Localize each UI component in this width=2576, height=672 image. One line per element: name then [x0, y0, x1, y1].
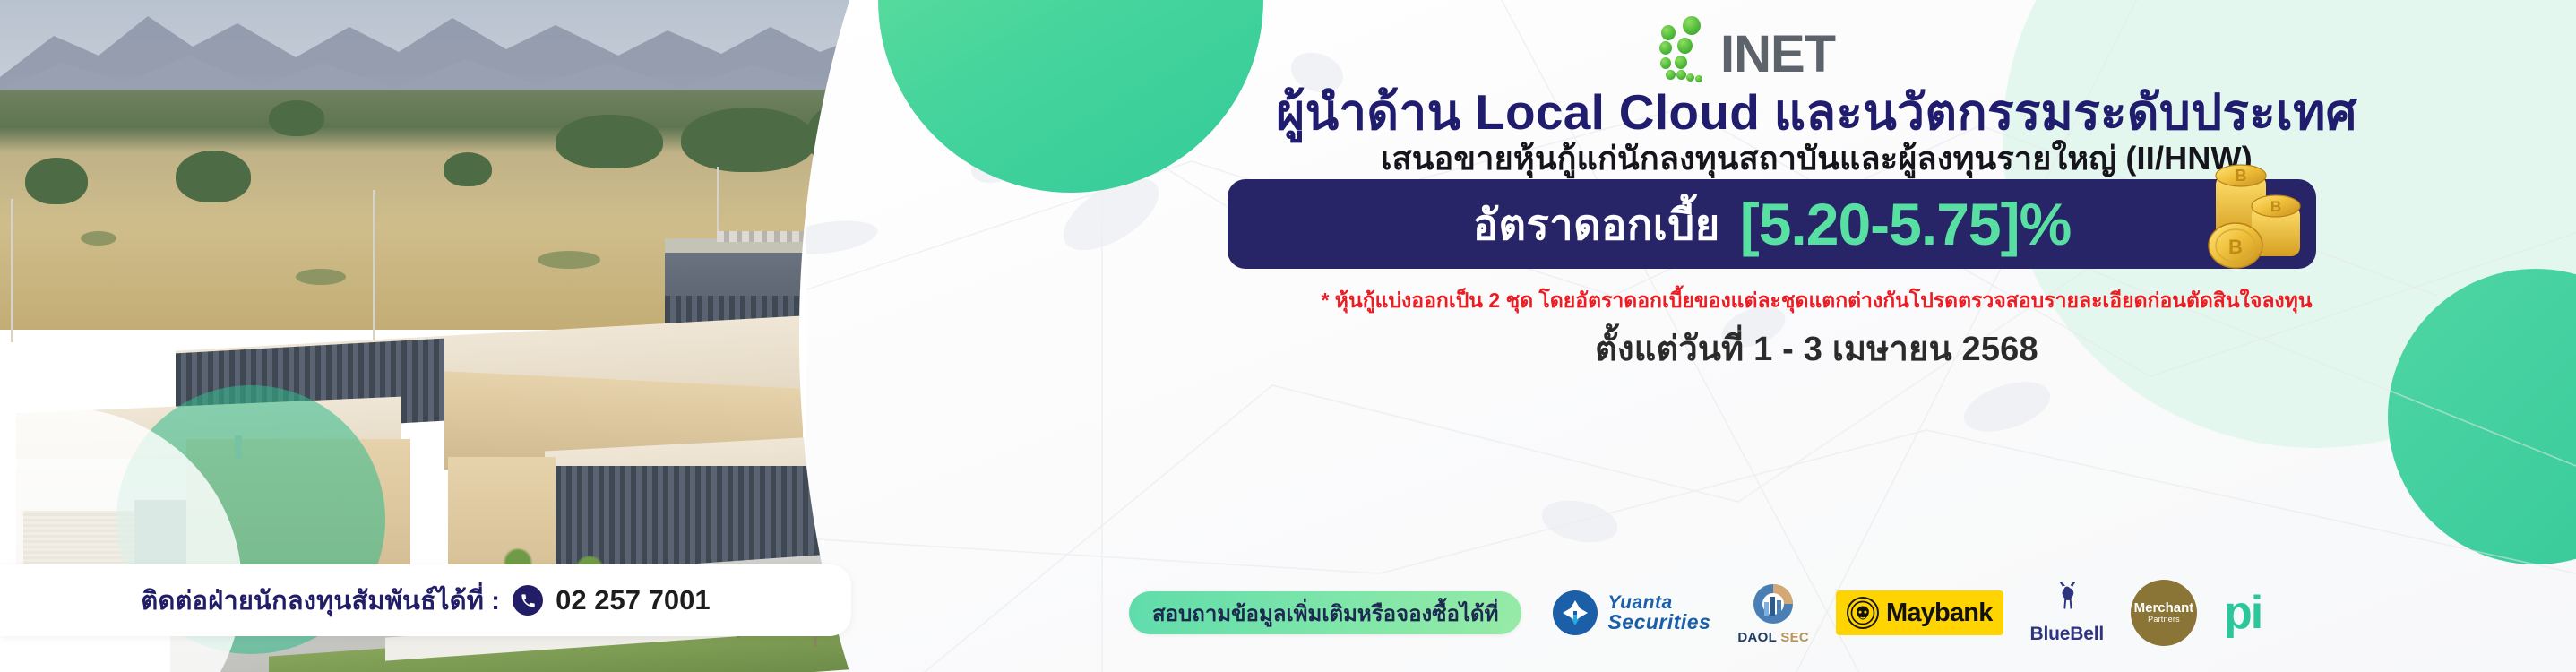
inet-bond-offering-banner: ติดต่อฝ่ายนักลงทุนสัมพันธ์ได้ที่ : 02 25… [0, 0, 2576, 672]
tree [556, 115, 663, 168]
gold-coin-stack-icon: B B B [2189, 152, 2323, 287]
partner-logo-maybank[interactable]: Maybank [1836, 590, 2003, 635]
partner-logo-pi[interactable]: pi [2224, 592, 2262, 634]
utility-pole [373, 190, 375, 342]
svg-text:B: B [2228, 236, 2243, 258]
contact-phone-number[interactable]: 02 257 7001 [556, 584, 710, 616]
daol-sec-suffix: SEC [1780, 630, 1809, 645]
inet-logo: INET [1649, 16, 1835, 77]
roof-equipment [717, 231, 923, 242]
svg-text:B: B [2236, 167, 2247, 185]
partner-logo-bluebell[interactable]: BlueBell [2030, 582, 2104, 645]
partner-logo-yuanta[interactable]: Yuanta Securities [1552, 590, 1710, 636]
tree [25, 158, 88, 204]
investor-relations-contact-card: ติดต่อฝ่ายนักลงทุนสัมพันธ์ได้ที่ : 02 25… [0, 564, 851, 636]
offering-disclaimer: * หุ้นกู้แบ่งออกเป็น 2 ชุด โดยอัตราดอกเบ… [1057, 285, 2576, 317]
merchant-name-line2: Partners [2148, 616, 2180, 624]
phone-icon [513, 585, 543, 616]
bluebell-deer-icon [2048, 582, 2086, 622]
maybank-tiger-icon [1847, 597, 1879, 629]
yuanta-name-line1: Yuanta [1607, 593, 1710, 612]
inet-dots-logo-icon [1649, 16, 1715, 77]
page-subtitle: เสนอขายหุ้นกู้แก่นักลงทุนสถาบันและผู้ลงท… [1057, 133, 2576, 184]
svg-text:B: B [2270, 198, 2281, 215]
inquiry-cta-button[interactable]: สอบถามข้อมูลเพิ่มเติมหรือจองซื้อได้ที่ [1129, 591, 1521, 634]
partners-row: สอบถามข้อมูลเพิ่มเติมหรือจองซื้อได้ที่ [1129, 582, 2576, 643]
yuanta-name-line2: Securities [1607, 612, 1710, 633]
yuanta-star-icon [1552, 590, 1598, 636]
promo-content: INET ผู้นำด้าน Local Cloud และนวัตกรรมระ… [1057, 0, 2576, 672]
inet-logo-text: INET [1720, 32, 1835, 77]
tree [444, 152, 492, 186]
interest-rate-box: อัตราดอกเบี้ย [5.20-5.75]% [1228, 179, 2316, 269]
interest-rate-value: [5.20-5.75]% [1740, 190, 2072, 258]
maybank-name: Maybank [1886, 599, 1993, 628]
daol-pie-icon [1750, 581, 1796, 627]
bush [81, 231, 116, 246]
utility-pole [11, 199, 13, 342]
partner-logo-merchant-partners[interactable]: Merchant Partners [2131, 580, 2197, 646]
bush [538, 251, 600, 269]
partner-logo-daol-sec[interactable]: DAOL SEC [1737, 581, 1809, 645]
offering-date-range: ตั้งแต่วันที่ 1 - 3 เมษายน 2568 [1057, 321, 2576, 375]
bluebell-name: BlueBell [2030, 624, 2104, 645]
tree [269, 100, 324, 136]
tree [681, 108, 815, 172]
contact-label: ติดต่อฝ่ายนักลงทุนสัมพันธ์ได้ที่ : [141, 580, 500, 621]
bush [296, 269, 346, 285]
partner-logos: Yuanta Securities [1552, 580, 2576, 646]
tree [176, 151, 251, 202]
daol-name: DAOL [1737, 630, 1776, 645]
interest-rate-label: อัตราดอกเบี้ย [1473, 191, 1720, 258]
merchant-name-line1: Merchant [2134, 601, 2194, 616]
